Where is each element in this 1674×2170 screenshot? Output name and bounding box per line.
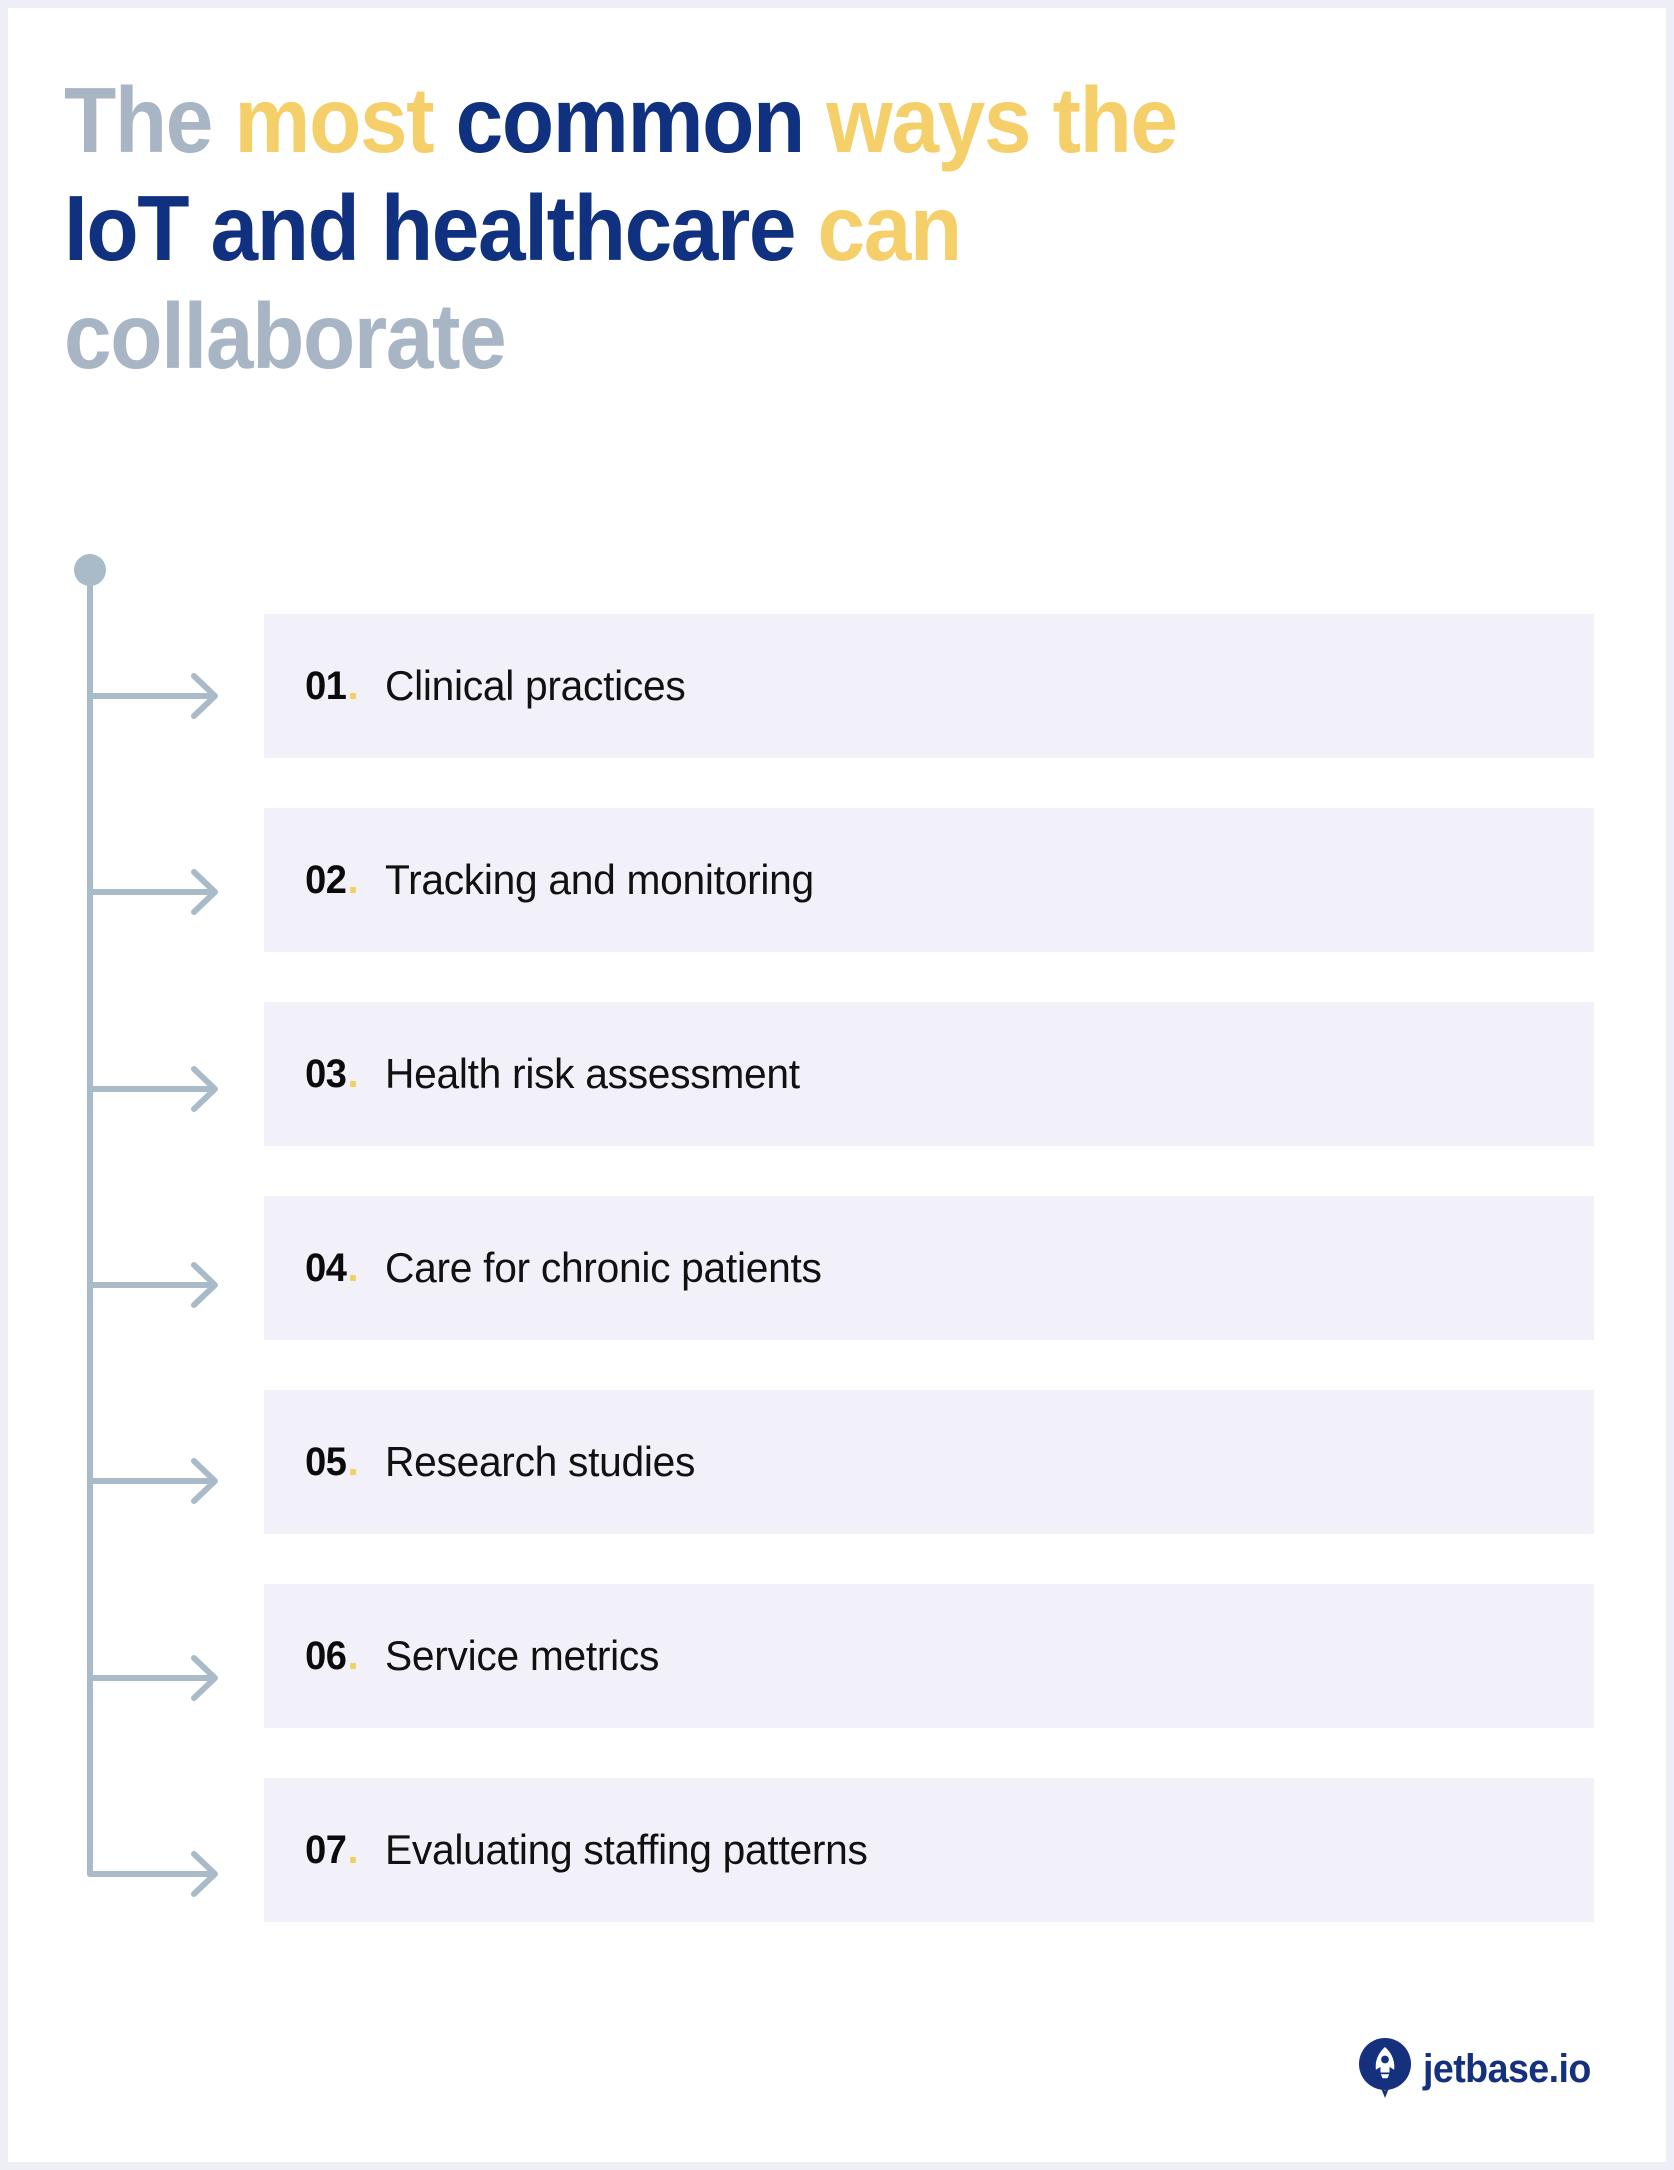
logo-wordmark: jetbase.io (1423, 2047, 1591, 2092)
poster-page: The most common ways theIoT and healthca… (8, 8, 1666, 2162)
timeline-arrow-5 (90, 1461, 215, 1501)
list-item-label: Tracking and monitoring (385, 856, 814, 904)
list-item[interactable]: 05. Research studies (264, 1390, 1594, 1534)
list-item-separator: . (348, 858, 359, 903)
list-item[interactable]: 03. Health risk assessment (264, 1002, 1594, 1146)
list-item-separator: . (348, 1440, 359, 1485)
timeline-arrow-6 (90, 1658, 215, 1698)
list-item-separator: . (348, 1052, 359, 1097)
timeline-arrow-7 (90, 1854, 215, 1894)
list-item[interactable]: 01. Clinical practices (264, 614, 1594, 758)
jetbase-logo[interactable]: jetbase.io (1358, 2038, 1602, 2100)
timeline-arrow-2 (90, 872, 215, 912)
list-item-number: 02 (305, 858, 346, 903)
list-item-number: 04 (305, 1246, 346, 1291)
list-item-label: Service metrics (385, 1632, 659, 1680)
title-segment-yellow: can (818, 176, 961, 280)
timeline-arrow-4 (90, 1265, 215, 1305)
list-item[interactable]: 07. Evaluating staffing patterns (264, 1778, 1594, 1922)
list-item-label: Research studies (385, 1438, 695, 1486)
list-item-separator: . (348, 664, 359, 709)
list-item-separator: . (348, 1828, 359, 1873)
list-item[interactable]: 04. Care for chronic patients (264, 1196, 1594, 1340)
list-item-separator: . (348, 1246, 359, 1291)
list-item-label: Evaluating staffing patterns (385, 1826, 868, 1874)
list-item-number: 03 (305, 1052, 346, 1097)
timeline-connector (8, 8, 308, 2162)
title-segment-navy: common (456, 68, 827, 172)
title-segment-yellow: ways the (826, 68, 1176, 172)
list-item-label: Care for chronic patients (385, 1244, 822, 1292)
list-item[interactable]: 06. Service metrics (264, 1584, 1594, 1728)
list-item-separator: . (348, 1634, 359, 1679)
timeline-arrow-3 (90, 1069, 215, 1109)
list-item-number: 05 (305, 1440, 346, 1485)
timeline-arrow-1 (90, 676, 215, 716)
list-item-number: 07 (305, 1828, 346, 1873)
numbered-list: 01. Clinical practices 02. Tracking and … (264, 614, 1594, 1972)
list-item[interactable]: 02. Tracking and monitoring (264, 808, 1594, 952)
list-item-label: Health risk assessment (385, 1050, 800, 1098)
list-item-label: Clinical practices (385, 662, 685, 710)
list-item-number: 06 (305, 1634, 346, 1679)
rocket-icon (1358, 2038, 1412, 2100)
list-item-number: 01 (305, 664, 346, 709)
timeline-arrow-group (90, 676, 215, 1894)
